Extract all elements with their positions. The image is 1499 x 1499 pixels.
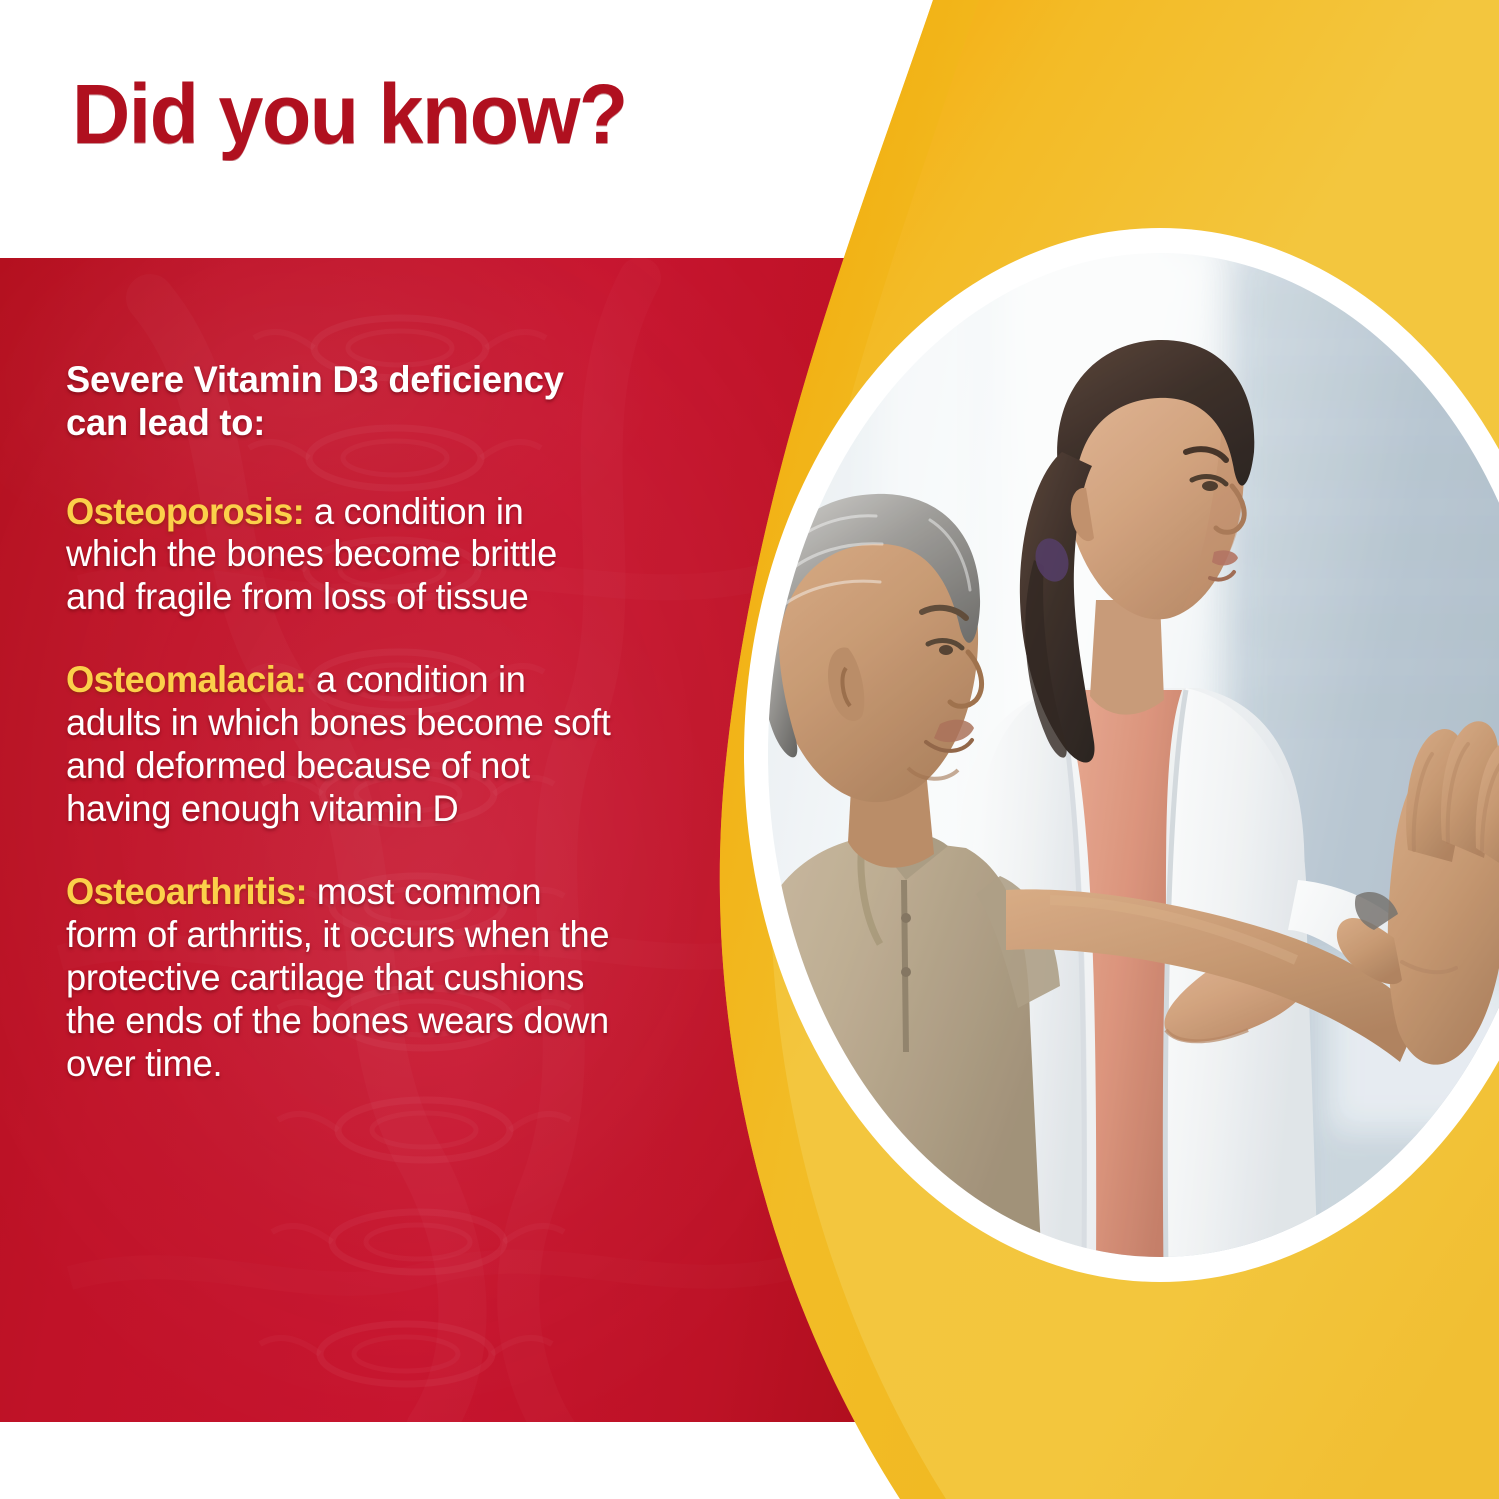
condition-item-osteomalacia: Osteomalacia: a condition in adults in w… [66, 659, 615, 831]
condition-term: Osteoarthritis: [66, 871, 307, 912]
condition-term: Osteomalacia: [66, 659, 306, 700]
condition-term: Osteoporosis: [66, 491, 304, 532]
lede-text: Severe Vitamin D3 deficiency can lead to… [66, 358, 615, 445]
page-title: Did you know? [72, 72, 802, 156]
condition-item-osteoporosis: Osteoporosis: a condition in which the b… [66, 491, 615, 620]
infographic-canvas: Did you know? Severe Vitamin D3 deficien… [0, 0, 1499, 1499]
condition-item-osteoarthritis: Osteoarthritis: most common form of arth… [66, 871, 615, 1086]
content-column: Severe Vitamin D3 deficiency can lead to… [66, 358, 626, 1085]
